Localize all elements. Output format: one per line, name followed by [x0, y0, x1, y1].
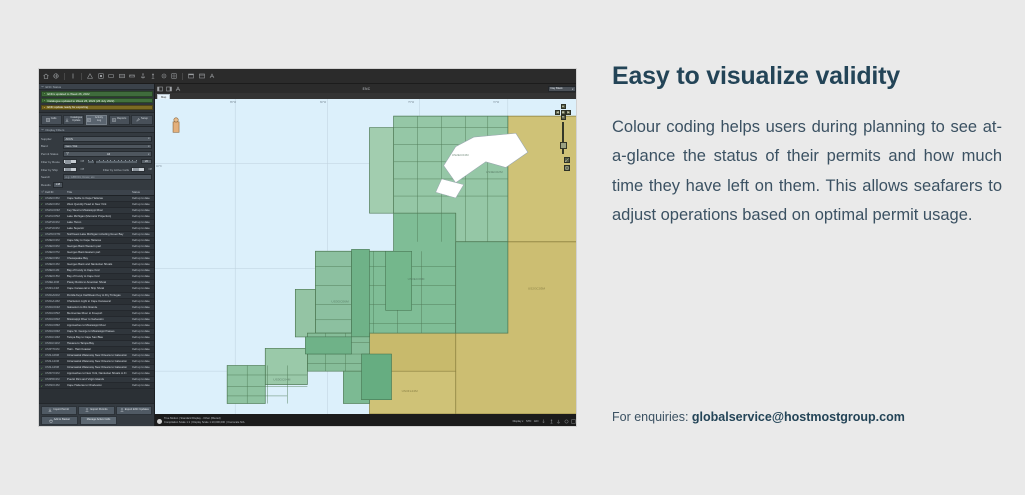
- svg-text:US2GC03M: US2GC03M: [528, 286, 546, 290]
- tab-label: Reports: [117, 118, 126, 121]
- column-status[interactable]: Status: [132, 190, 154, 194]
- svg-text:US3GC06M: US3GC06M: [331, 300, 349, 304]
- chevron-down-icon: [41, 128, 44, 131]
- target-icon[interactable]: [564, 419, 569, 424]
- slide-root: ENC Status ENCs updated to Week 26, 2022…: [0, 0, 1025, 495]
- cell-title: Havana to Tampa Bay: [67, 342, 132, 345]
- route-range-value[interactable]: 20: [141, 159, 152, 164]
- cell-status: Cell up to date: [132, 372, 154, 375]
- svg-text:US3EC09M: US3EC09M: [408, 277, 425, 281]
- ship-marker: [173, 118, 179, 132]
- chevron-down-icon: ▾: [148, 137, 149, 140]
- search-label: Search: [41, 175, 61, 179]
- button-label: Import Permit: [53, 409, 69, 412]
- cell-title: Mississippi River to Galveston: [67, 318, 132, 321]
- cell-id: US2HA02M: [45, 227, 67, 230]
- table-row[interactable]: ✓US3SC10MCape Hatteras to CharlestonCell…: [39, 383, 154, 389]
- toolbar-divider: [64, 73, 65, 80]
- filter-supplier-row: Supplier AVCS ▾: [41, 136, 152, 143]
- tab-activity-log[interactable]: Activity Log: [86, 115, 107, 125]
- cell-id: US2EC03M: [45, 197, 67, 200]
- cell-title: Cape St. George to Mississippi Passes: [67, 330, 132, 333]
- map-status-text: True Motion | Standard Display - Other (…: [164, 417, 245, 425]
- log-icon: [87, 118, 91, 122]
- map-pan-control[interactable]: ▲ ◀ ◉ ▶ ▼: [555, 104, 571, 120]
- cell-title: Lake Huron: [67, 221, 132, 224]
- filter-active-cells-toggle[interactable]: [131, 167, 145, 172]
- cell-id: US3GA01M: [45, 294, 67, 297]
- cell-title: Cape Hatteras to Charleston: [67, 384, 132, 387]
- cell-status: Cell up to date: [132, 215, 154, 218]
- report-icon: [112, 118, 116, 122]
- button-label: Add to Basket: [54, 419, 70, 422]
- toolbar-divider: [182, 73, 183, 80]
- anchor-icon[interactable]: [556, 419, 561, 424]
- enquiry-email[interactable]: globalservice@hostmostgroup.com: [692, 410, 905, 424]
- layers-icon[interactable]: [571, 419, 576, 424]
- cell-id: US3GA10M: [45, 300, 67, 303]
- cell-id: US3EC01M: [45, 239, 67, 242]
- button-label: Manage Active Cells: [87, 419, 111, 422]
- cell-status: Cell up to date: [132, 300, 154, 303]
- info-icon[interactable]: [70, 73, 77, 80]
- cell-status: Cell up to date: [132, 251, 154, 254]
- display-menu[interactable]: Display ▾: [513, 419, 524, 423]
- cell-id: US3HT01M: [45, 348, 67, 351]
- filter-band-row: Band Gen / Cst ▾: [41, 143, 152, 150]
- cell-status: Cell up to date: [132, 294, 154, 297]
- tab-label: Catalogue Update: [70, 117, 83, 122]
- cell-status: Cell up to date: [132, 227, 154, 230]
- chevron-down-icon: ▾: [148, 153, 149, 156]
- enc-status-title: ENC Status: [46, 85, 62, 89]
- cell-status: Cell up to date: [132, 318, 154, 321]
- cell-status: Cell up to date: [132, 239, 154, 242]
- cell-title: Florida Keys Caribbean Key to Dry Tortug…: [67, 294, 132, 297]
- panel-icon[interactable]: [188, 73, 195, 80]
- cell-status: Cell up to date: [132, 257, 154, 260]
- palette-select[interactable]: Day Black ▾: [548, 86, 576, 92]
- cell-id: US3LA29M: [45, 366, 67, 369]
- cell-id: US3NY01M: [45, 372, 67, 375]
- cell-title: Georges Bank and Nantucket Shoals: [67, 263, 132, 266]
- buoy-icon[interactable]: [150, 73, 157, 80]
- filter-by-route-row: Filter by Route Off 20: [41, 159, 152, 166]
- filter-permit-status-row: Permit Status All ▾: [41, 151, 152, 158]
- cell-title: West Quoddy Head to New York: [67, 203, 132, 206]
- zoom-slider[interactable]: [560, 122, 567, 154]
- map-header: ENC Day Black ▾: [155, 84, 577, 93]
- anchor-icon[interactable]: [139, 73, 146, 80]
- cell-title: Cape May to Cape Hatteras: [67, 239, 132, 242]
- tab-label: Cells: [51, 118, 57, 121]
- filter-by-ship-row: Filter by Ship Off Filter by Active Cell…: [41, 166, 152, 173]
- column-title[interactable]: Title: [67, 190, 132, 194]
- palette-value: Day Black: [551, 87, 563, 90]
- enc-status-list: ENCs updated to Week 26, 2022 Catalogue …: [39, 90, 154, 112]
- text-icon[interactable]: [209, 73, 216, 80]
- status-chip: [43, 99, 46, 102]
- toolbar-divider: [81, 73, 82, 80]
- globe-icon[interactable]: [53, 73, 60, 80]
- permit-status-value: All: [107, 152, 110, 156]
- cell-id: US3SC10M: [45, 384, 67, 387]
- cell-id: US3EC15M: [45, 275, 67, 278]
- alert-triangle-icon[interactable]: [87, 73, 94, 80]
- permit-status-select[interactable]: All ▾: [63, 151, 152, 157]
- band-label: Band: [41, 144, 61, 148]
- chevron-down-icon: ▾: [148, 145, 149, 148]
- status-text: ENCs updated to Week 26, 2022: [47, 92, 89, 96]
- filter-active-cells-state: Off: [148, 168, 152, 171]
- tab-catalogue-update[interactable]: Catalogue Update: [63, 115, 84, 125]
- filter-ship-toggle[interactable]: [63, 167, 77, 172]
- status-row: Catalogue updated to Week 26, 2022 (26 J…: [41, 98, 153, 104]
- cell-id: US2GC03M: [45, 209, 67, 212]
- cell-status: Cell up to date: [132, 233, 154, 236]
- layers-icon[interactable]: [97, 73, 104, 80]
- cell-id: US2GC05M: [45, 215, 67, 218]
- cell-status: Cell up to date: [132, 269, 154, 272]
- body-paragraph: Colour coding helps users during plannin…: [612, 113, 1002, 230]
- supplier-select[interactable]: AVCS ▾: [63, 136, 152, 142]
- panel-action-buttons: Import Permit Export Permits: [39, 403, 154, 427]
- export-icon: [85, 408, 89, 412]
- filter-form: Supplier AVCS ▾ Band Gen / Cst ▾: [39, 133, 154, 189]
- cell-status: Cell up to date: [132, 342, 154, 345]
- add-to-basket-button[interactable]: Add to Basket: [41, 416, 79, 425]
- cell-title: Chesapeake Bay: [67, 257, 132, 260]
- grid-label-lon: 75°W: [408, 101, 414, 104]
- import-icon: [48, 408, 52, 412]
- depth-icon[interactable]: [541, 419, 546, 424]
- cell-id: US3EC11M: [45, 269, 67, 272]
- cell-title: Galveston to Rio Grande: [67, 306, 132, 309]
- left-panel: ENC Status ENCs updated to Week 26, 2022…: [39, 84, 155, 427]
- pan-right-button[interactable]: ▶: [566, 110, 571, 115]
- cell-title: Bay of Fundy to Cape Cod: [67, 275, 132, 278]
- svg-text:US3FL24M: US3FL24M: [402, 389, 419, 393]
- import-permit-button[interactable]: Import Permit: [41, 406, 77, 415]
- cell-id: US3EC09M: [45, 257, 67, 260]
- cell-id: US3GC09M: [45, 330, 67, 333]
- grid-label-lon: 70°W: [493, 101, 499, 104]
- status-row: ENC update ready for exporting: [41, 105, 153, 111]
- route-icon[interactable]: [118, 73, 125, 80]
- wrench-icon: [136, 118, 140, 122]
- cell-status: Cell up to date: [132, 275, 154, 278]
- cell-status: Cell up to date: [132, 221, 154, 224]
- marketing-copy: Easy to visualize validity Colour coding…: [612, 62, 1002, 230]
- cell-id: US3FL24M: [45, 287, 67, 290]
- status-text: Catalogue updated to Week 26, 2022 (26 J…: [47, 99, 114, 103]
- cell-id: US3EC10M: [45, 263, 67, 266]
- slider-thumb[interactable]: [94, 160, 96, 165]
- cell-title: Approaches to Mississippi River: [67, 324, 132, 327]
- cell-status: Cell up to date: [132, 366, 154, 369]
- cells-icon: [46, 118, 50, 122]
- cell-title: Intracoastal Waterway New Orleans to Gal…: [67, 354, 132, 357]
- button-label: Export ENC Updates: [125, 409, 149, 412]
- export-enc-updates-button[interactable]: Export ENC Updates: [116, 406, 152, 415]
- cell-title: Mermentau River to Freeport: [67, 312, 132, 315]
- display-filters-title: Display Filters: [46, 128, 65, 132]
- cell-title: Cape Sable to Cape Hatteras: [67, 197, 132, 200]
- tab-label: Activity Log: [92, 117, 105, 122]
- cell-status: Cell up to date: [132, 281, 154, 284]
- cell-title: Georges Bank Eastern part: [67, 251, 132, 254]
- grid-icon[interactable]: [171, 73, 178, 80]
- cell-id: US3PR01M: [45, 378, 67, 381]
- cell-title: Bay of Fundy to Cape Cod: [67, 269, 132, 272]
- pan-center-button[interactable]: ◉: [561, 110, 566, 115]
- cell-title: Cape Canaveral to Ship Shoal: [67, 287, 132, 290]
- cell-title: Lake Superior: [67, 227, 132, 230]
- funnel-icon: [66, 152, 69, 156]
- cell-status: Cell up to date: [132, 209, 154, 212]
- cell-title: Passy Rocks to American Shoal: [67, 281, 132, 284]
- enquiry-prefix: For enquiries:: [612, 410, 688, 424]
- grid-label-lon: 85°W: [230, 101, 236, 104]
- cell-status: Cell up to date: [132, 348, 154, 351]
- cell-id: US3GC11M: [45, 342, 67, 345]
- cell-status: Cell up to date: [132, 360, 154, 363]
- chart-icon[interactable]: [108, 73, 115, 80]
- tab-cells[interactable]: Cells: [41, 115, 62, 125]
- status-text: ENC update ready for exporting: [47, 105, 88, 109]
- cell-title: Intracoastal Waterway New Orleans to Gal…: [67, 366, 132, 369]
- permit-table: Cell ID Title Status ✓US2EC03MCape Sable…: [39, 190, 154, 403]
- route-range-slider[interactable]: [88, 159, 137, 164]
- cell-title: Northwest Lake Michigan including Green …: [67, 233, 132, 236]
- results-label: Results: [41, 183, 51, 187]
- cell-id: US3LA10M: [45, 360, 67, 363]
- export-permits-button[interactable]: Export Permits: [78, 406, 114, 415]
- aio-toggle[interactable]: AIO: [534, 420, 539, 423]
- cell-status: Cell up to date: [132, 324, 154, 327]
- basket-icon: [49, 419, 53, 423]
- filter-route-label: Filter by Route: [41, 160, 61, 164]
- cell-status: Cell up to date: [132, 336, 154, 339]
- cell-id: US2WC07M: [45, 233, 67, 236]
- cell-id: US3GC10M: [45, 336, 67, 339]
- cell-status: Cell up to date: [132, 330, 154, 333]
- status-row: ENCs updated to Week 26, 2022: [41, 91, 153, 97]
- cell-title: Key West to Mississippi River: [67, 209, 132, 212]
- cell-id: US2EC04M: [45, 203, 67, 206]
- cell-id: US2HA01M: [45, 221, 67, 224]
- cell-id: US3EL20M: [45, 281, 67, 284]
- cell-status: Cell up to date: [132, 312, 154, 315]
- measure-icon[interactable]: [564, 157, 570, 163]
- supplier-value: AVCS: [66, 137, 73, 141]
- pin-icon[interactable]: [564, 165, 570, 171]
- permit-status-label: Permit Status: [41, 152, 61, 156]
- cell-status: Cell up to date: [132, 287, 154, 290]
- map-title: ENC: [155, 87, 577, 91]
- cell-status: Cell up to date: [132, 245, 154, 248]
- cell-title: Georges Bank Western part: [67, 245, 132, 248]
- table-body: ✓US2EC03MCape Sable to Cape HatterasCell…: [39, 196, 154, 390]
- cell-status: Cell up to date: [132, 197, 154, 200]
- band-value: Gen / Cst: [66, 144, 78, 148]
- pan-left-button[interactable]: ◀: [555, 110, 560, 115]
- cell-id: US3LA09M: [45, 354, 67, 357]
- cell-id: US3GC05M: [45, 312, 67, 315]
- results-count: 148: [53, 182, 63, 188]
- map-zone: ENC Day Black ▾ Map: [155, 84, 577, 427]
- cell-title: Charleston Light to Cape Canaveral: [67, 300, 132, 303]
- tab-reports[interactable]: Reports: [109, 115, 130, 125]
- cell-status: Cell up to date: [132, 384, 154, 387]
- buoy-icon[interactable]: [549, 419, 554, 424]
- status-line-1: True Motion | Standard Display - Other (…: [164, 417, 221, 420]
- manage-active-cells-button[interactable]: Manage Active Cells: [80, 416, 118, 425]
- main-toolbar: [39, 69, 577, 84]
- status-chip: [43, 92, 46, 95]
- page-title: Easy to visualize validity: [612, 62, 1002, 91]
- compass-icon: [157, 419, 162, 424]
- panel-nav-tabs: Cells Catalogue Update Activity Log: [39, 112, 154, 127]
- download-icon: [65, 118, 69, 122]
- band-select[interactable]: Gen / Cst ▾: [63, 144, 152, 150]
- status-chip: [43, 106, 46, 109]
- map-canvas[interactable]: US2EC04M US3EC02M US3EC09M US3GC06M US3G…: [155, 99, 577, 414]
- filter-route-toggle[interactable]: [63, 159, 77, 164]
- results-row: Results 148: [41, 180, 152, 187]
- status-line-2: Compilation Scale 1:1 | Display Scale 1:…: [164, 421, 245, 424]
- cell-title: Lake Michigan (Mercator Projection): [67, 215, 132, 218]
- std-toggle[interactable]: STD: [526, 420, 531, 423]
- cell-status: Cell up to date: [132, 378, 154, 381]
- svg-text:US3GC04M: US3GC04M: [273, 378, 291, 382]
- grid-label-lat: 40°N: [156, 165, 162, 168]
- search-input[interactable]: e.g. GB5X01, Dover, etc.: [63, 174, 152, 180]
- cell-title: Intracoastal Waterway New Orleans to Gal…: [67, 360, 132, 363]
- filter-ship-state: Off: [81, 168, 85, 171]
- cell-id: US3EC02M: [45, 245, 67, 248]
- zoom-track: [562, 122, 564, 154]
- cell-id: US3GC08M: [45, 324, 67, 327]
- svg-text:US2EC04M: US2EC04M: [452, 153, 469, 157]
- zoom-handle[interactable]: [560, 142, 567, 149]
- cell-status: Cell up to date: [132, 354, 154, 357]
- ruler-icon[interactable]: [129, 73, 136, 80]
- pan-up-button[interactable]: ▲: [561, 104, 566, 109]
- cell-status: Cell up to date: [132, 306, 154, 309]
- column-cell-id[interactable]: Cell ID: [45, 190, 67, 194]
- cell-title: Approaches to New York, Nantucket Shoals…: [67, 372, 132, 375]
- chevron-down-icon: [41, 85, 44, 88]
- supplier-label: Supplier: [41, 137, 61, 141]
- svg-text:US3EC02M: US3EC02M: [486, 170, 503, 174]
- upload-icon: [120, 408, 124, 412]
- cell-status: Cell up to date: [132, 203, 154, 206]
- tab-setup[interactable]: Setup: [131, 115, 152, 125]
- filter-route-state: Off: [81, 160, 85, 163]
- filter-ship-label: Filter by Ship: [41, 168, 61, 172]
- button-label: Export Permits: [90, 409, 107, 412]
- chart-render: US2EC04M US3EC02M US3EC09M US3GC06M US3G…: [155, 99, 577, 414]
- cell-title: Puerto Rico and Virgin Islands: [67, 378, 132, 381]
- cell-id: US3GC06M: [45, 318, 67, 321]
- cell-status: Cell up to date: [132, 263, 154, 266]
- cell-id: US3GC04M: [45, 306, 67, 309]
- pan-down-button[interactable]: ▼: [561, 115, 566, 120]
- enquiry-line: For enquiries: globalservice@hostmostgro…: [612, 410, 905, 424]
- application-screenshot: ENC Status ENCs updated to Week 26, 2022…: [38, 68, 577, 427]
- grid-label-lon: 80°W: [320, 101, 326, 104]
- cell-title: Haiti - Haiti Coastal: [67, 348, 132, 351]
- map-status-right: Display ▾ STD AIO: [513, 419, 576, 424]
- home-icon[interactable]: [42, 73, 49, 80]
- target-icon[interactable]: [160, 73, 167, 80]
- tab-label: Setup: [141, 118, 148, 121]
- app-body: ENC Status ENCs updated to Week 26, 2022…: [39, 84, 577, 427]
- cell-id: US3EC07M: [45, 251, 67, 254]
- filter-active-cells-label: Filter by Active Cells: [103, 168, 129, 172]
- cell-title: Tampa Bay to Cape San Blas: [67, 336, 132, 339]
- chevron-down-icon: ▾: [572, 87, 573, 91]
- map-status-bar: True Motion | Standard Display - Other (…: [155, 414, 577, 427]
- window-icon[interactable]: [198, 73, 205, 80]
